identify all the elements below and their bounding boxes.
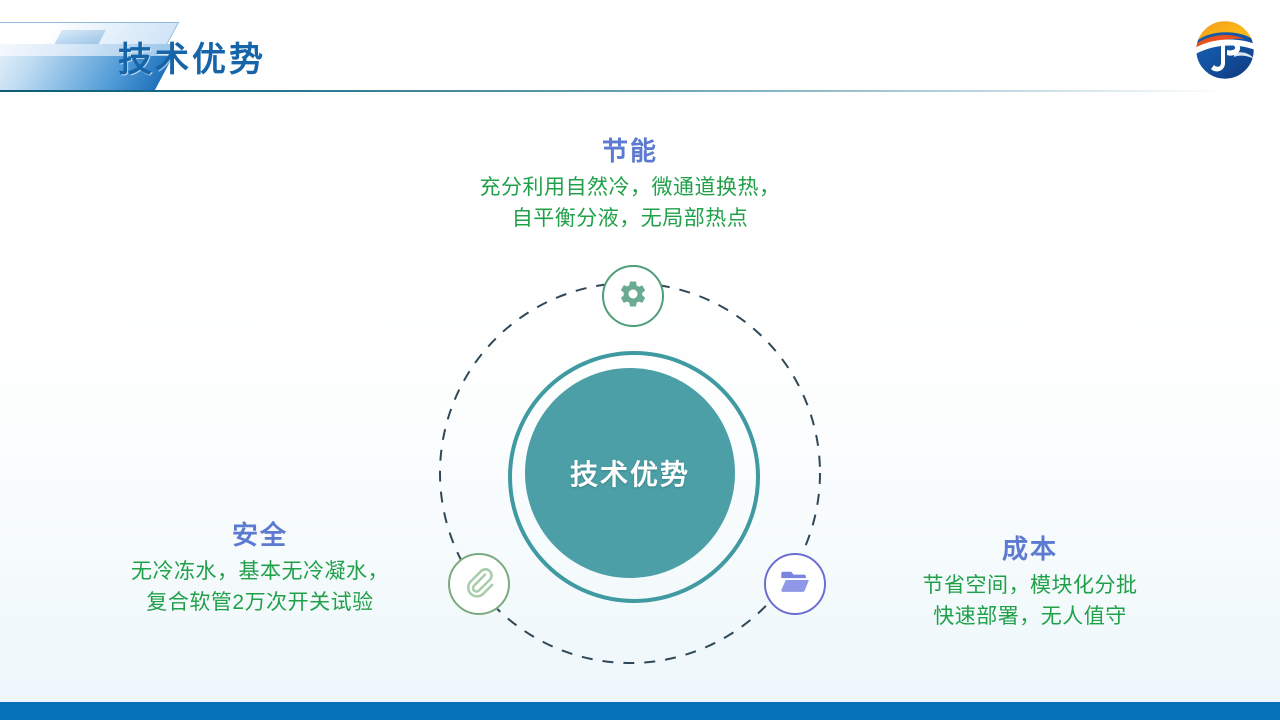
center-hub: 技术优势	[525, 368, 735, 578]
node-energy[interactable]	[602, 265, 664, 327]
block-cost-title: 成本	[810, 534, 1250, 565]
gear-icon	[618, 279, 648, 314]
advantages-diagram: 技术优势	[0, 0, 1280, 720]
block-energy-title: 节能	[380, 136, 880, 167]
slide-canvas: 技术优势	[0, 0, 1280, 720]
block-cost-body: 节省空间，模块化分批 快速部署，无人值守	[810, 571, 1250, 632]
footer-bar	[0, 702, 1280, 720]
folder-icon	[779, 568, 811, 601]
block-energy-body: 充分利用自然冷，微通道换热， 自平衡分液，无局部热点	[380, 173, 880, 234]
center-hub-label: 技术优势	[570, 453, 690, 493]
block-cost: 成本 节省空间，模块化分批 快速部署，无人值守	[810, 534, 1250, 632]
block-safety: 安全 无冷冻水，基本无冷凝水， 复合软管2万次开关试验	[32, 520, 488, 618]
block-safety-body: 无冷冻水，基本无冷凝水， 复合软管2万次开关试验	[32, 557, 488, 618]
block-energy: 节能 充分利用自然冷，微通道换热， 自平衡分液，无局部热点	[380, 136, 880, 234]
block-safety-title: 安全	[32, 520, 488, 551]
